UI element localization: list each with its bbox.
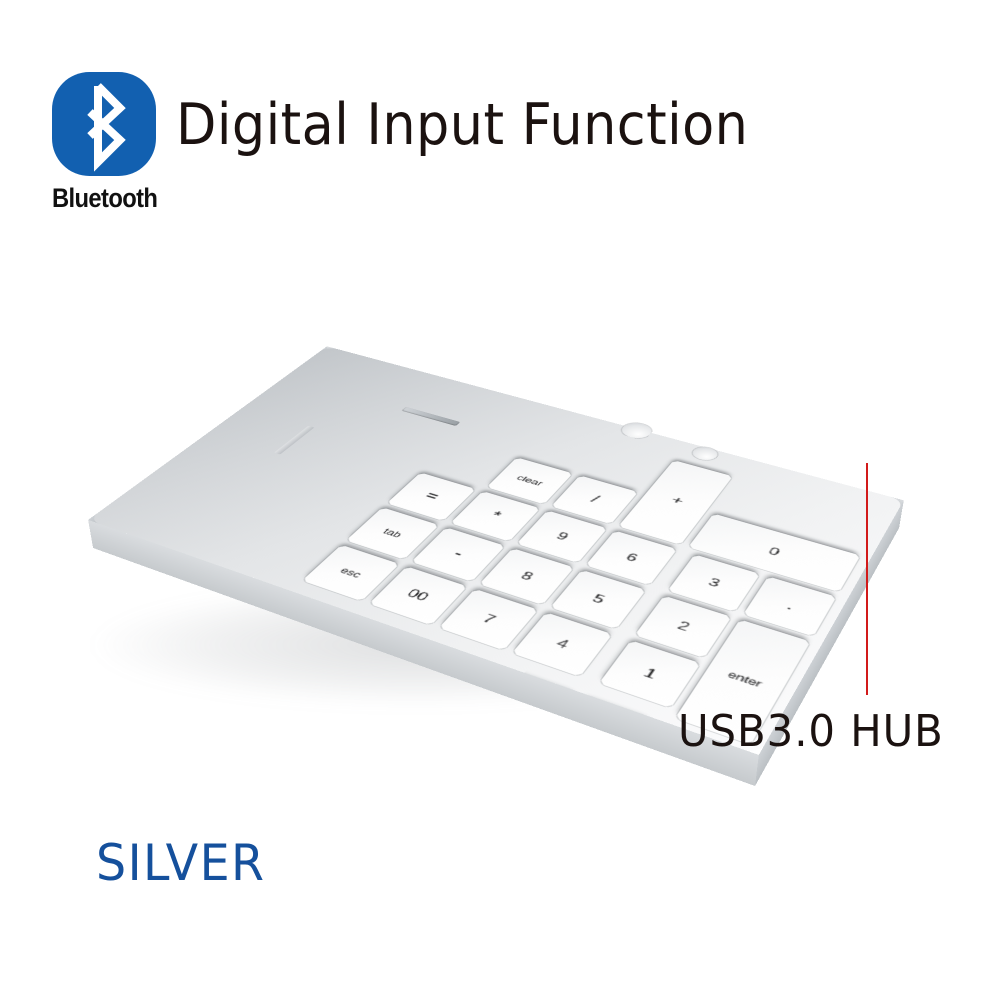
- key-plus[interactable]: +: [618, 460, 733, 545]
- key-page-down-label: page down: [268, 541, 304, 561]
- key-1[interactable]: 1: [599, 640, 701, 708]
- key-6[interactable]: 6: [585, 531, 677, 586]
- usb-callout-line: [866, 463, 868, 695]
- key-7[interactable]: 7: [439, 589, 539, 651]
- key-calculator-label: [41, 517, 74, 535]
- key-notes-label: [148, 500, 182, 518]
- key-minus-label: -: [450, 547, 467, 560]
- key-double-zero-label: 00: [405, 587, 432, 603]
- key-7-label: 7: [480, 612, 498, 626]
- key-2[interactable]: 2: [635, 596, 732, 658]
- key-divide-label: /: [588, 494, 602, 505]
- key-delete-label: delete: [103, 599, 146, 623]
- key-period-label: .: [783, 599, 796, 613]
- key-double-zero[interactable]: 00: [369, 566, 468, 625]
- key-1-label: 1: [641, 666, 659, 681]
- key-period[interactable]: .: [743, 576, 836, 636]
- notebook-icon: [150, 500, 181, 517]
- key-8-label: 8: [518, 570, 536, 583]
- brand-strip: [274, 426, 315, 455]
- power-switch-slot[interactable]: [401, 407, 460, 426]
- key-multiply-label: *: [487, 510, 504, 522]
- key-2-label: 2: [675, 619, 692, 633]
- key-4[interactable]: 4: [512, 612, 613, 676]
- key-enter-label: enter: [726, 669, 764, 689]
- rubber-foot-right: [617, 420, 656, 441]
- key-tab-label: tab: [381, 527, 404, 539]
- key-notes[interactable]: [117, 485, 211, 535]
- key-5-label: 5: [590, 592, 607, 605]
- key-esc-label: esc: [338, 566, 364, 579]
- key-arrow-up-label: ▲: [479, 744, 501, 759]
- key-0-label: 0: [766, 545, 782, 557]
- key-4-label: 4: [553, 637, 571, 651]
- key-3[interactable]: 3: [667, 554, 760, 612]
- key-8[interactable]: 8: [479, 548, 574, 605]
- usb-callout-label: USB3.0 HUB: [678, 706, 944, 757]
- calculator-icon: [43, 517, 74, 533]
- key-page-up-label: page up: [207, 520, 241, 538]
- key-6-label: 6: [623, 551, 640, 563]
- key-5[interactable]: 5: [550, 570, 646, 629]
- key-minus[interactable]: -: [411, 527, 505, 582]
- key-insert-label: ins: [52, 582, 72, 593]
- backspace-icon: [109, 609, 130, 620]
- chassis-top-face: enter.0321+654/987clear*-00=tabesc ▲◀▼▶ …: [88, 346, 904, 755]
- numeric-keypad: enter.0321+654/987clear*-00=tabesc ▲◀▼▶ …: [88, 346, 904, 755]
- key-page-down[interactable]: page down: [238, 524, 334, 578]
- key-esc[interactable]: esc: [302, 545, 400, 601]
- key-9-label: 9: [554, 530, 571, 542]
- key-clear-label: clear: [515, 474, 545, 487]
- key-0[interactable]: 0: [688, 514, 860, 593]
- rubber-foot-left: [689, 445, 721, 463]
- key-3-label: 3: [706, 576, 722, 589]
- key-plus-label: +: [668, 494, 687, 507]
- key-equals-label: =: [421, 490, 441, 503]
- color-variant-label: SILVER: [96, 834, 265, 892]
